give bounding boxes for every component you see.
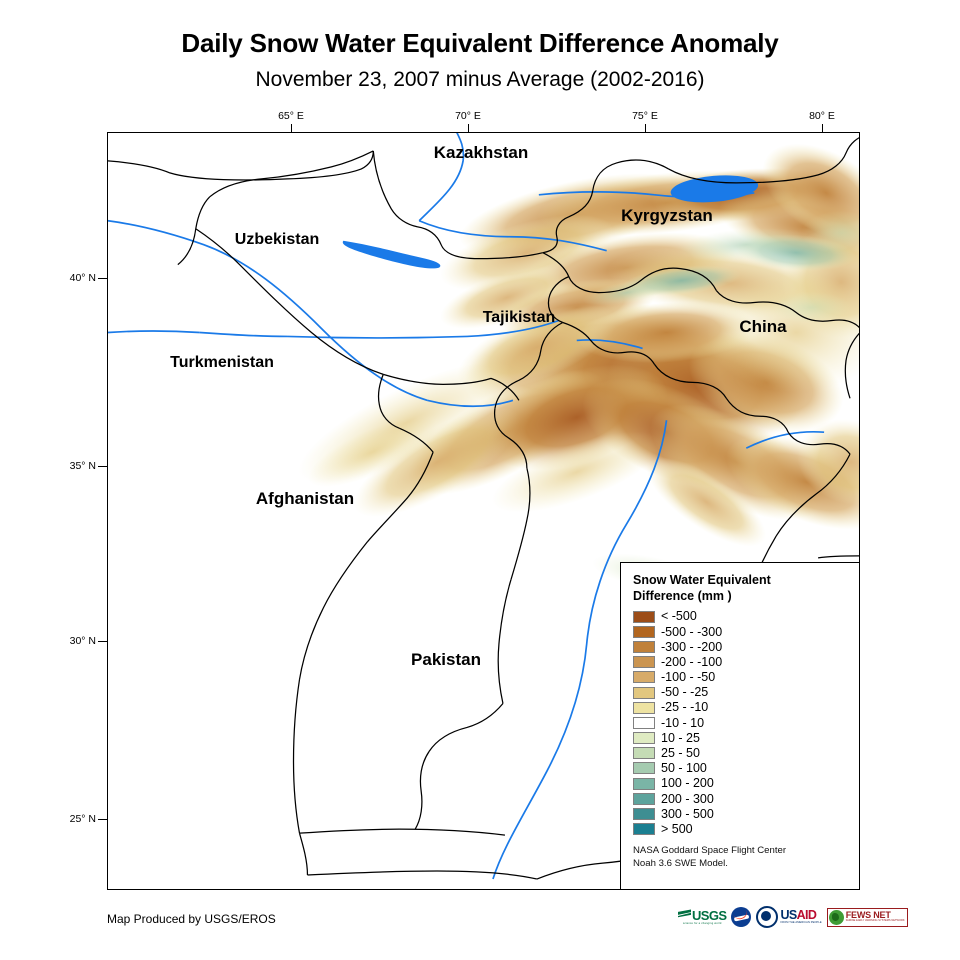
- legend-row: -25 - -10: [633, 700, 849, 715]
- legend-source-note: NASA Goddard Space Flight Center Noah 3.…: [633, 844, 849, 870]
- page-title: Daily Snow Water Equivalent Difference A…: [0, 28, 960, 59]
- legend-label: -50 - -25: [661, 686, 708, 699]
- lon-tick-label: 70° E: [455, 110, 481, 122]
- legend-row: -300 - -200: [633, 639, 849, 654]
- legend-swatch: [633, 656, 655, 668]
- legend-label: -300 - -200: [661, 641, 722, 654]
- page-subtitle: November 23, 2007 minus Average (2002-20…: [0, 68, 960, 92]
- legend-label: -100 - -50: [661, 671, 715, 684]
- legend-swatch: [633, 626, 655, 638]
- usaid-logo-text-block: USAID FROM THE AMERICAN PEOPLE: [780, 909, 821, 924]
- usgs-logo-mark-and-text: USGS: [678, 909, 726, 922]
- country-label-kyrgyzstan: Kyrgyzstan: [621, 206, 713, 226]
- legend-label: -500 - -300: [661, 626, 722, 639]
- legend-row: 200 - 300: [633, 791, 849, 806]
- legend-title-line1: Snow Water Equivalent: [633, 572, 849, 588]
- country-label-pakistan: Pakistan: [411, 650, 481, 670]
- lat-tick-mark: [98, 819, 107, 820]
- legend-title-line2: Difference (mm ): [633, 588, 849, 604]
- legend-swatch: [633, 717, 655, 729]
- legend-row: 10 - 25: [633, 731, 849, 746]
- legend-label: < -500: [661, 610, 697, 623]
- legend-swatch: [633, 747, 655, 759]
- legend-label: 25 - 50: [661, 747, 700, 760]
- legend-swatch: [633, 611, 655, 623]
- fewsnet-globe-icon: [829, 910, 844, 925]
- usaid-logo: USAID FROM THE AMERICAN PEOPLE: [756, 906, 821, 928]
- country-label-kazakhstan: Kazakhstan: [434, 143, 528, 163]
- lon-tick-label: 65° E: [278, 110, 304, 122]
- legend-swatch: [633, 687, 655, 699]
- legend-label: -25 - -10: [661, 701, 708, 714]
- nasa-meatball-icon: [731, 907, 751, 927]
- legend-swatch: [633, 671, 655, 683]
- legend-swatch: [633, 702, 655, 714]
- legend-swatch: [633, 808, 655, 820]
- legend-swatch: [633, 762, 655, 774]
- country-label-turkmenistan: Turkmenistan: [170, 354, 274, 372]
- legend-label: 100 - 200: [661, 777, 714, 790]
- legend-swatch: [633, 793, 655, 805]
- usaid-logo-tagline: FROM THE AMERICAN PEOPLE: [780, 922, 821, 925]
- fewsnet-logo: FEWS NET FAMINE EARLY WARNING SYSTEMS NE…: [827, 908, 908, 927]
- legend-swatch: [633, 823, 655, 835]
- legend-note-line2: Noah 3.6 SWE Model.: [633, 857, 849, 870]
- fewsnet-logo-tagline: FAMINE EARLY WARNING SYSTEMS NETWORK: [846, 920, 905, 923]
- lat-tick-label: 25° N: [60, 813, 96, 825]
- legend-row: -10 - 10: [633, 715, 849, 730]
- legend-row: 300 - 500: [633, 806, 849, 821]
- usgs-logo-tagline: science for a changing world: [683, 922, 721, 925]
- legend-row: -100 - -50: [633, 670, 849, 685]
- lon-tick-label: 75° E: [632, 110, 658, 122]
- legend-title: Snow Water Equivalent Difference (mm ): [633, 572, 849, 604]
- legend-row: 100 - 200: [633, 776, 849, 791]
- legend-swatch: [633, 778, 655, 790]
- legend-note-line1: NASA Goddard Space Flight Center: [633, 844, 849, 857]
- nasa-logo: [731, 906, 751, 928]
- legend-row: -50 - -25: [633, 685, 849, 700]
- map-legend: Snow Water Equivalent Difference (mm ) <…: [620, 562, 860, 890]
- legend-row: 25 - 50: [633, 746, 849, 761]
- lon-tick-label: 80° E: [809, 110, 835, 122]
- legend-label: > 500: [661, 823, 693, 836]
- country-label-tajikistan: Tajikistan: [483, 309, 556, 327]
- legend-label: 300 - 500: [661, 808, 714, 821]
- agency-logos: USGS science for a changing world USAID …: [678, 906, 908, 928]
- legend-row: 50 - 100: [633, 761, 849, 776]
- usgs-logo-text: USGS: [692, 909, 726, 922]
- legend-label: 200 - 300: [661, 793, 714, 806]
- footer-credit: Map Produced by USGS/EROS: [107, 912, 276, 926]
- lat-tick-mark: [98, 466, 107, 467]
- legend-label: 10 - 25: [661, 732, 700, 745]
- usgs-logo: USGS science for a changing world: [678, 906, 726, 928]
- legend-label: -10 - 10: [661, 717, 704, 730]
- fewsnet-text-block: FEWS NET FAMINE EARLY WARNING SYSTEMS NE…: [846, 911, 905, 923]
- swe-anomaly-raster: [285, 133, 859, 597]
- usgs-wave-icon: [678, 909, 691, 921]
- legend-swatch: [633, 641, 655, 653]
- legend-row: -200 - -100: [633, 655, 849, 670]
- legend-label: -200 - -100: [661, 656, 722, 669]
- legend-row: -500 - -300: [633, 624, 849, 639]
- lat-tick-mark: [98, 641, 107, 642]
- country-label-afghanistan: Afghanistan: [256, 489, 354, 509]
- lat-tick-label: 40° N: [60, 272, 96, 284]
- lat-tick-label: 30° N: [60, 635, 96, 647]
- lat-tick-label: 35° N: [60, 460, 96, 472]
- legend-label: 50 - 100: [661, 762, 707, 775]
- legend-swatch: [633, 732, 655, 744]
- legend-entries: < -500-500 - -300-300 - -200-200 - -100-…: [633, 609, 849, 837]
- country-label-uzbekistan: Uzbekistan: [235, 231, 319, 249]
- usaid-seal-icon: [756, 906, 778, 928]
- lat-tick-mark: [98, 278, 107, 279]
- legend-row: > 500: [633, 822, 849, 837]
- country-label-china: China: [739, 317, 786, 337]
- legend-row: < -500: [633, 609, 849, 624]
